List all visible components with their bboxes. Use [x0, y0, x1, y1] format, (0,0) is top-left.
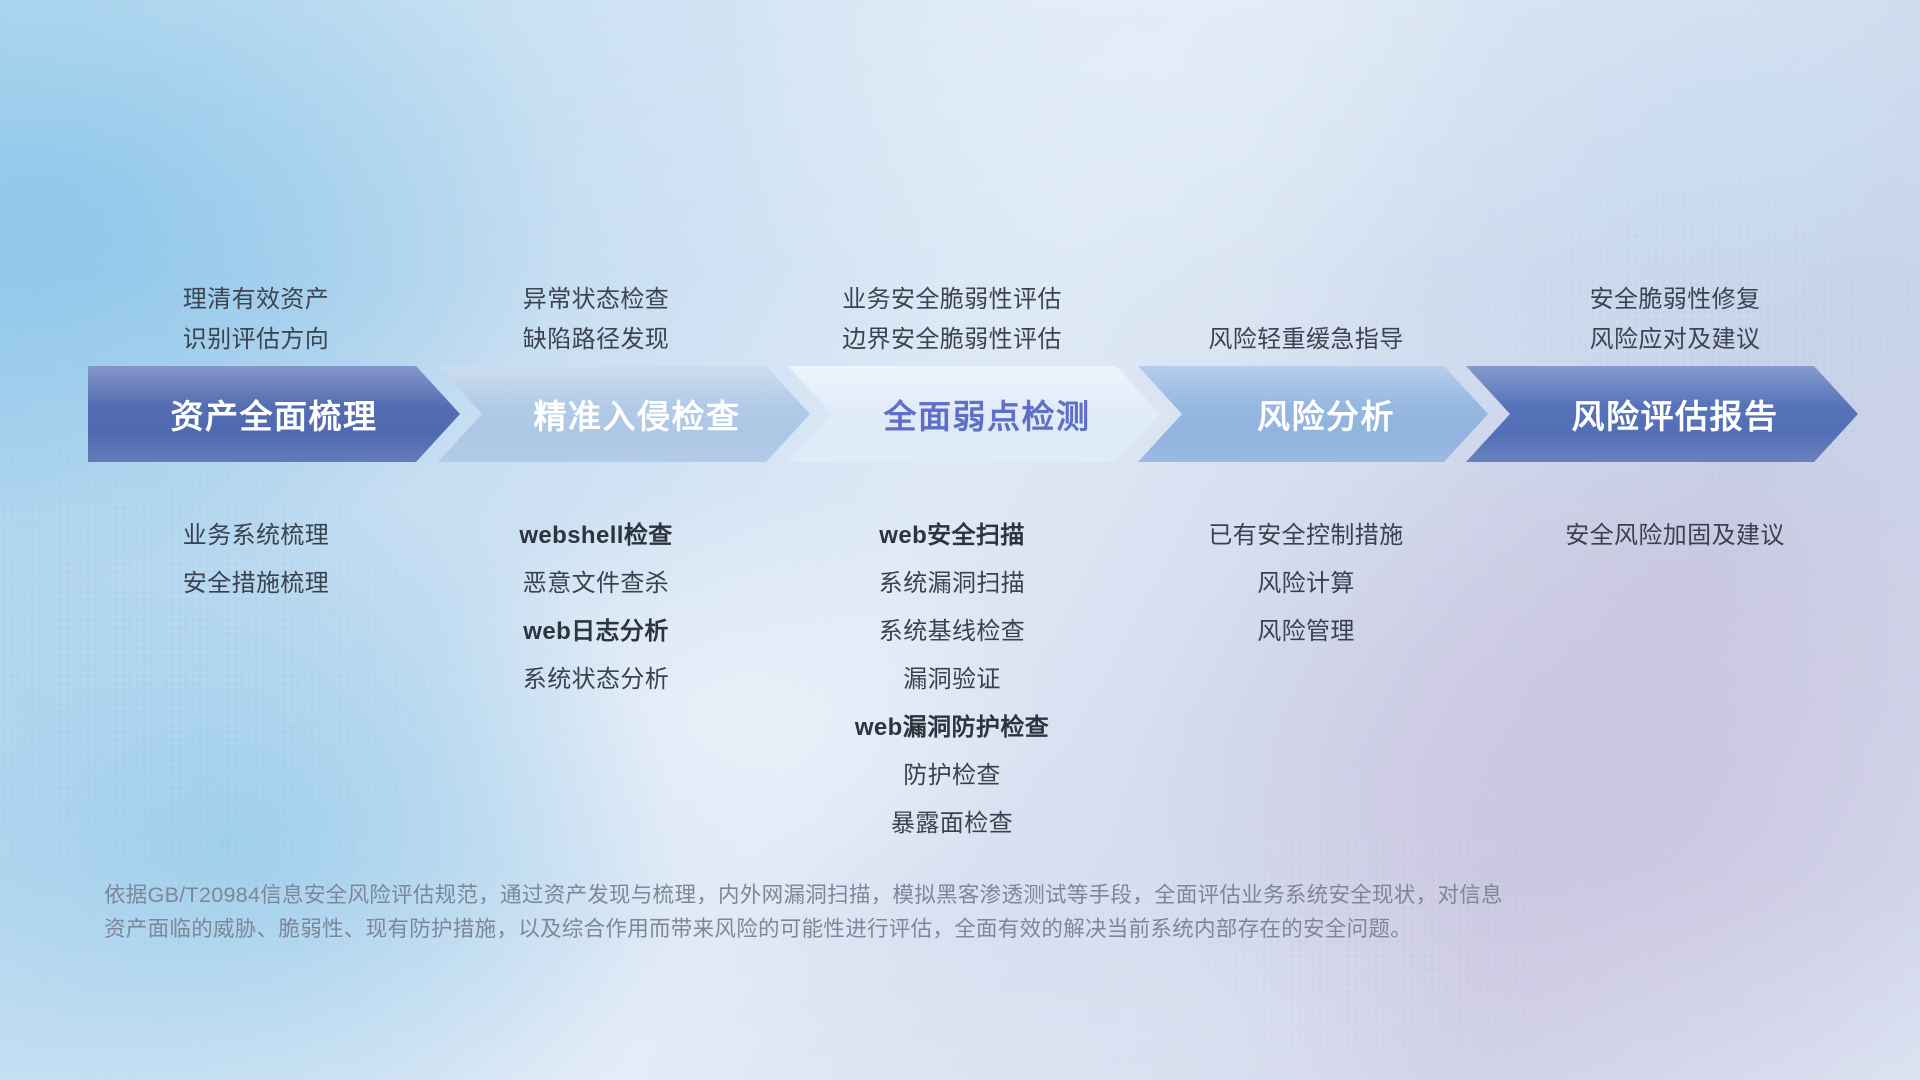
- process-chevron-band: 资产全面梳理精准入侵检查全面弱点检测风险分析风险评估报告: [88, 366, 1858, 462]
- bottom-annotation-item: 已有安全控制措施: [1208, 524, 1403, 548]
- top-annotation-item: 业务安全脆弱性评估: [842, 288, 1062, 312]
- bottom-annotation-item: 系统漏洞扫描: [879, 572, 1025, 596]
- bottom-annotation-item: 风险管理: [1257, 620, 1355, 644]
- bot-annotations-stage-2: webshell检查恶意文件查杀web日志分析系统状态分析: [426, 510, 766, 836]
- process-stage-2[interactable]: 精准入侵检查: [438, 366, 810, 462]
- bottom-annotation-item: 风险计算: [1257, 572, 1355, 596]
- top-annotation-item: 异常状态检查: [523, 288, 669, 312]
- footer-line-1: 依据GB/T20984信息安全风险评估规范，通过资产发现与梳理，内外网漏洞扫描，…: [104, 878, 1724, 912]
- bottom-annotation-item: 业务系统梳理: [183, 524, 329, 548]
- top-annotation-item: 缺陷路径发现: [523, 328, 669, 352]
- process-stage-1[interactable]: 资产全面梳理: [88, 366, 460, 462]
- bottom-annotation-item: 系统状态分析: [523, 668, 669, 692]
- bottom-annotations-row: 业务系统梳理安全措施梳理webshell检查恶意文件查杀web日志分析系统状态分…: [86, 510, 1876, 836]
- bottom-annotation-item: web日志分析: [523, 620, 668, 644]
- top-annotation-item: 风险轻重缓急指导: [1208, 328, 1403, 352]
- stage-title-4: 风险分析: [1257, 390, 1395, 438]
- top-annotation-item: 安全脆弱性修复: [1590, 288, 1761, 312]
- top-annotations-stage-4: 风险轻重缓急指导: [1138, 232, 1474, 352]
- bottom-annotation-item: 防护检查: [903, 764, 1001, 788]
- bottom-annotation-item: webshell检查: [519, 524, 672, 548]
- stage-title-1: 资产全面梳理: [171, 390, 378, 438]
- top-annotation-item: 风险应对及建议: [1590, 328, 1761, 352]
- footer-description: 依据GB/T20984信息安全风险评估规范，通过资产发现与梳理，内外网漏洞扫描，…: [104, 878, 1724, 946]
- stage-title-2: 精准入侵检查: [534, 390, 741, 438]
- top-annotations-stage-1: 理清有效资产识别评估方向: [86, 232, 426, 352]
- process-stage-4[interactable]: 风险分析: [1138, 366, 1488, 462]
- bot-annotations-stage-5: 安全风险加固及建议: [1474, 510, 1876, 836]
- top-annotations-stage-5: 安全脆弱性修复风险应对及建议: [1474, 232, 1876, 352]
- bot-annotations-stage-3: web安全扫描系统漏洞扫描系统基线检查漏洞验证web漏洞防护检查防护检查暴露面检…: [766, 510, 1138, 836]
- top-annotations-stage-2: 异常状态检查缺陷路径发现: [426, 232, 766, 352]
- top-annotations-row: 理清有效资产识别评估方向异常状态检查缺陷路径发现业务安全脆弱性评估边界安全脆弱性…: [86, 232, 1876, 352]
- bottom-annotation-item: 漏洞验证: [903, 668, 1001, 692]
- bottom-annotation-item: web漏洞防护检查: [855, 716, 1049, 740]
- bottom-annotation-item: 安全风险加固及建议: [1565, 524, 1785, 548]
- bottom-annotation-item: 恶意文件查杀: [523, 572, 669, 596]
- process-diagram: 理清有效资产识别评估方向异常状态检查缺陷路径发现业务安全脆弱性评估边界安全脆弱性…: [0, 0, 1920, 1080]
- process-stage-5[interactable]: 风险评估报告: [1466, 366, 1858, 462]
- top-annotation-item: 边界安全脆弱性评估: [842, 328, 1062, 352]
- top-annotations-stage-3: 业务安全脆弱性评估边界安全脆弱性评估: [766, 232, 1138, 352]
- bot-annotations-stage-4: 已有安全控制措施风险计算风险管理: [1138, 510, 1474, 836]
- bot-annotations-stage-1: 业务系统梳理安全措施梳理: [86, 510, 426, 836]
- top-annotation-item: 理清有效资产: [183, 288, 329, 312]
- bottom-annotation-item: 暴露面检查: [891, 812, 1013, 836]
- bottom-annotation-item: 安全措施梳理: [183, 572, 329, 596]
- bottom-annotation-item: web安全扫描: [879, 524, 1024, 548]
- stage-title-3: 全面弱点检测: [884, 390, 1091, 438]
- process-stage-3[interactable]: 全面弱点检测: [788, 366, 1160, 462]
- top-annotation-item: 识别评估方向: [183, 328, 329, 352]
- stage-title-5: 风险评估报告: [1572, 390, 1779, 438]
- footer-line-2: 资产面临的威胁、脆弱性、现有防护措施，以及综合作用而带来风险的可能性进行评估，全…: [104, 912, 1724, 946]
- bottom-annotation-item: 系统基线检查: [879, 620, 1025, 644]
